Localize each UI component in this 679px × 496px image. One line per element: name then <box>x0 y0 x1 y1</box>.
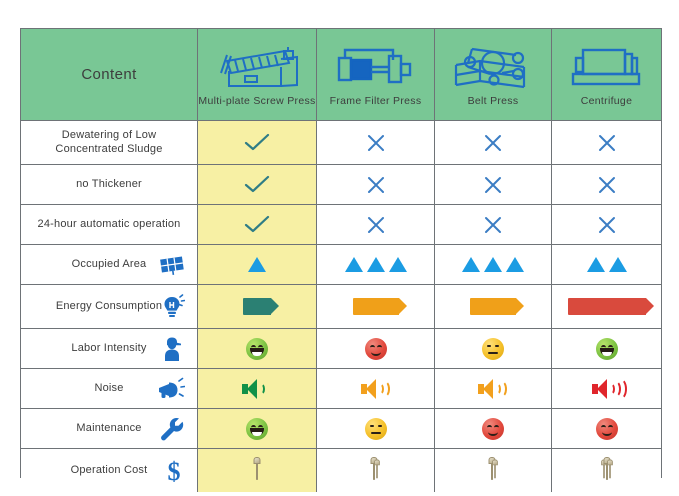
centrifuge-icon <box>567 42 647 94</box>
table-row: Operation Cost $ <box>21 448 661 492</box>
row-label-line-2: Concentrated Sludge <box>55 143 162 155</box>
speaker-icon <box>592 379 622 399</box>
comparison-table: Content Mult <box>20 28 662 478</box>
header-label-multi-plate-screw-press: Multi-plate Screw Press <box>198 96 315 108</box>
cross-icon <box>367 176 385 194</box>
money-bag-group <box>603 462 611 480</box>
cell-occupied-area-belt-press <box>434 245 551 284</box>
cell-maintenance-centrifuge <box>551 409 661 448</box>
neutral-face-icon <box>482 338 504 360</box>
cell-noise-frame-filter <box>316 369 434 408</box>
speaker-icon <box>361 379 391 399</box>
check-icon <box>244 175 270 195</box>
cell-maintenance-frame-filter <box>316 409 434 448</box>
money-bag-icon <box>609 463 611 478</box>
cell-dewatering-belt-press <box>434 121 551 164</box>
triangle-icon <box>389 257 407 272</box>
table-row: Labor Intensity <box>21 328 661 368</box>
cell-noise-screw-press <box>197 369 316 408</box>
sad-face-icon <box>596 418 618 440</box>
table-row: Maintenance <box>21 408 661 448</box>
table-row: Occupied Area <box>21 244 661 284</box>
cell-occupied-area-centrifuge <box>551 245 661 284</box>
header-cell-multi-plate-screw-press[interactable]: Multi-plate Screw Press <box>197 29 316 120</box>
money-bag-group <box>491 462 496 480</box>
header-label-frame-filter-press: Frame Filter Press <box>330 96 422 108</box>
happy-face-icon <box>596 338 618 360</box>
cell-cost-centrifuge <box>551 449 661 492</box>
cell-cost-screw-press <box>197 449 316 492</box>
cell-no-thickener-belt-press <box>434 165 551 204</box>
header-cell-belt-press[interactable]: Belt Press <box>434 29 551 120</box>
row-label-text: Energy Consumption <box>56 300 162 312</box>
page-title: Content <box>81 66 136 83</box>
cell-maintenance-screw-press <box>197 409 316 448</box>
row-label-text: Operation Cost <box>71 464 148 476</box>
cross-icon <box>367 216 385 234</box>
cell-no-thickener-frame-filter <box>316 165 434 204</box>
belt-press-icon <box>450 42 536 94</box>
frame-filter-press-icon <box>333 42 419 94</box>
triangle-group <box>248 257 266 272</box>
triangle-icon <box>462 257 480 272</box>
cell-energy-centrifuge <box>551 285 661 328</box>
row-label-operation-cost: Operation Cost $ <box>21 449 197 492</box>
header-cell-centrifuge[interactable]: Centrifuge <box>551 29 661 120</box>
energy-arrow <box>243 298 271 315</box>
cell-energy-belt-press <box>434 285 551 328</box>
row-label-text: no Thickener <box>76 178 142 190</box>
cross-icon <box>484 216 502 234</box>
table-row: Noise <box>21 368 661 408</box>
row-label-noise: Noise <box>21 369 197 408</box>
cell-dewatering-screw-press <box>197 121 316 164</box>
sad-face-icon <box>365 338 387 360</box>
table-row: no Thickener <box>21 164 661 204</box>
happy-face-icon <box>246 338 268 360</box>
row-label-text: Labor Intensity <box>71 342 146 354</box>
neutral-face-icon <box>365 418 387 440</box>
megaphone-icon <box>157 377 185 401</box>
table-header-row: Content Mult <box>21 29 661 120</box>
row-label-24-hour-operation: 24-hour automatic operation <box>21 205 197 244</box>
speaker-icon <box>242 379 272 399</box>
triangle-icon <box>484 257 502 272</box>
cell-cost-frame-filter <box>316 449 434 492</box>
cell-labor-screw-press <box>197 329 316 368</box>
row-label-labor-intensity: Labor Intensity <box>21 329 197 368</box>
triangle-icon <box>506 257 524 272</box>
cell-24hour-belt-press <box>434 205 551 244</box>
header-label-belt-press: Belt Press <box>468 96 519 108</box>
row-label-text: Noise <box>94 382 123 394</box>
triangle-icon <box>248 257 266 272</box>
row-label-no-thickener: no Thickener <box>21 165 197 204</box>
money-bag-group <box>373 462 378 480</box>
triangle-group <box>587 257 627 272</box>
sad-face-icon <box>482 418 504 440</box>
cell-no-thickener-screw-press <box>197 165 316 204</box>
triangle-group <box>345 257 407 272</box>
worker-icon <box>161 336 185 362</box>
screw-press-icon <box>211 42 303 94</box>
check-icon <box>244 215 270 235</box>
cell-labor-belt-press <box>434 329 551 368</box>
money-bag-icon <box>256 462 258 480</box>
cross-icon <box>484 176 502 194</box>
table-row: 24-hour automatic operation <box>21 204 661 244</box>
cell-maintenance-belt-press <box>434 409 551 448</box>
cell-energy-screw-press <box>197 285 316 328</box>
cell-noise-centrifuge <box>551 369 661 408</box>
cross-icon <box>598 216 616 234</box>
triangle-group <box>462 257 524 272</box>
row-label-occupied-area: Occupied Area <box>21 245 197 284</box>
speaker-icon <box>478 379 508 399</box>
triangle-icon <box>367 257 385 272</box>
cell-24hour-frame-filter <box>316 205 434 244</box>
header-cell-frame-filter-press[interactable]: Frame Filter Press <box>316 29 434 120</box>
energy-arrow <box>353 298 399 315</box>
header-cell-content: Content <box>21 29 197 120</box>
wrench-icon <box>159 416 185 442</box>
cell-occupied-area-frame-filter <box>316 245 434 284</box>
cell-occupied-area-screw-press <box>197 245 316 284</box>
cross-icon <box>598 176 616 194</box>
row-label-line-1: Dewatering of Low <box>62 129 157 141</box>
row-label-dewatering: Dewatering of Low Concentrated Sludge <box>21 121 197 164</box>
energy-arrow <box>470 298 516 315</box>
money-bag-icon <box>376 463 378 478</box>
table-row: Dewatering of Low Concentrated Sludge <box>21 120 661 164</box>
table-row: Energy Consumption <box>21 284 661 328</box>
energy-arrow <box>568 298 646 315</box>
cross-icon <box>598 134 616 152</box>
money-bag-icon <box>494 463 496 478</box>
money-bag-group <box>256 462 258 480</box>
cell-no-thickener-centrifuge <box>551 165 661 204</box>
dollar-icon: $ <box>163 457 185 485</box>
row-label-maintenance: Maintenance <box>21 409 197 448</box>
solar-panel-icon <box>159 254 185 276</box>
triangle-icon <box>345 257 363 272</box>
cell-dewatering-frame-filter <box>316 121 434 164</box>
header-label-centrifuge: Centrifuge <box>581 96 632 108</box>
cell-24hour-screw-press <box>197 205 316 244</box>
cross-icon <box>367 134 385 152</box>
row-label-text: Maintenance <box>76 422 141 434</box>
svg-text:$: $ <box>168 457 181 485</box>
cell-noise-belt-press <box>434 369 551 408</box>
cell-labor-centrifuge <box>551 329 661 368</box>
row-label-text: Occupied Area <box>72 258 147 270</box>
money-bag-icon <box>603 463 605 478</box>
check-icon <box>244 133 270 153</box>
triangle-icon <box>587 257 605 272</box>
cell-cost-belt-press <box>434 449 551 492</box>
lightbulb-icon <box>159 294 185 320</box>
cell-dewatering-centrifuge <box>551 121 661 164</box>
cell-energy-frame-filter <box>316 285 434 328</box>
cell-24hour-centrifuge <box>551 205 661 244</box>
cell-labor-frame-filter <box>316 329 434 368</box>
row-label-text: 24-hour automatic operation <box>38 218 181 230</box>
cross-icon <box>484 134 502 152</box>
happy-face-icon <box>246 418 268 440</box>
row-label-energy-consumption: Energy Consumption <box>21 285 197 328</box>
triangle-icon <box>609 257 627 272</box>
